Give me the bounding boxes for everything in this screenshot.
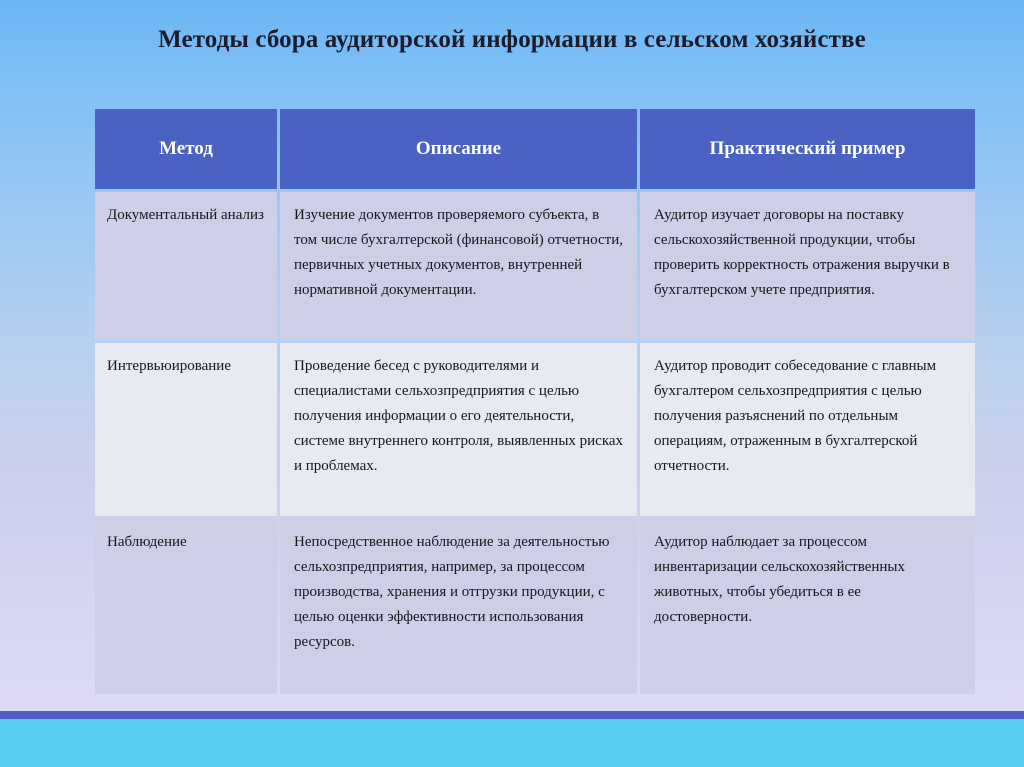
cell-method: Наблюдение [95,519,277,694]
table-header: Метод Описание Практический пример [95,109,975,189]
footer-band [0,719,1024,767]
cell-description: Проведение бесед с руководителями и спец… [280,343,637,516]
methods-table: Метод Описание Практический пример Докум… [92,106,978,697]
column-header-method: Метод [95,109,277,189]
column-header-description: Описание [280,109,637,189]
footer-rule [0,711,1024,719]
cell-method: Документальный анализ [95,192,277,340]
cell-example: Аудитор наблюдает за процессом инвентари… [640,519,975,694]
column-header-example: Практический пример [640,109,975,189]
methods-table-container: Метод Описание Практический пример Докум… [92,106,972,697]
cell-description: Непосредственное наблюдение за деятельно… [280,519,637,694]
cell-description: Изучение документов проверяемого субъект… [280,192,637,340]
table-body: Документальный анализ Изучение документо… [95,192,975,694]
table-row: Документальный анализ Изучение документо… [95,192,975,340]
table-row: Наблюдение Непосредственное наблюдение з… [95,519,975,694]
table-row: Интервьюирование Проведение бесед с руко… [95,343,975,516]
table-header-row: Метод Описание Практический пример [95,109,975,189]
page-title: Методы сбора аудиторской информации в се… [112,24,912,55]
cell-example: Аудитор проводит собеседование с главным… [640,343,975,516]
cell-example: Аудитор изучает договоры на поставку сел… [640,192,975,340]
cell-method: Интервьюирование [95,343,277,516]
slide: Методы сбора аудиторской информации в се… [0,0,1024,767]
